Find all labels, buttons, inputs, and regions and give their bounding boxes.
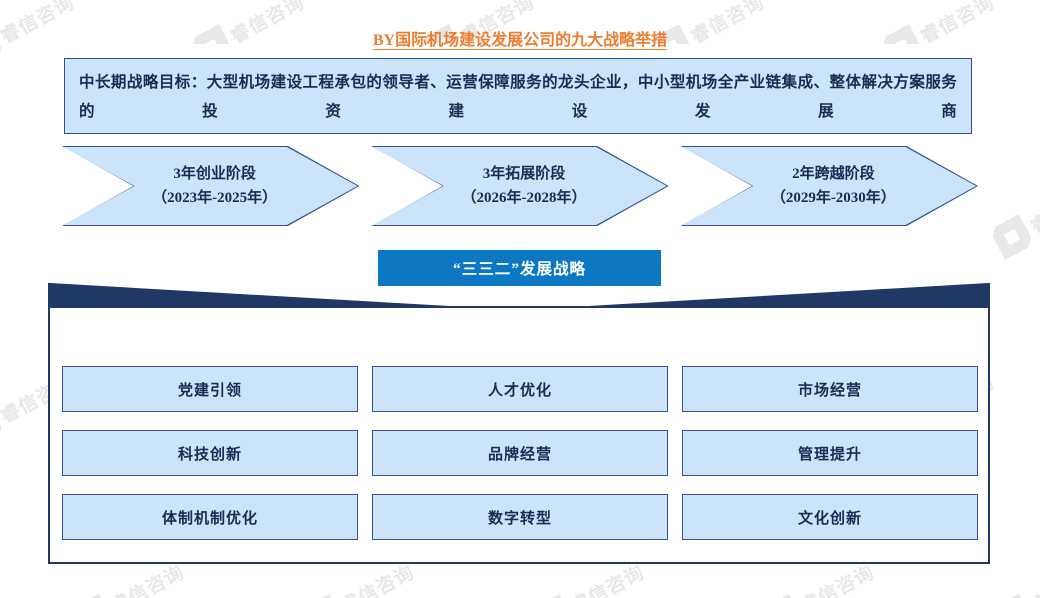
- measures-grid: 党建引领 人才优化 市场经营 科技创新 品牌经营 管理提升 体制机制优化 数字转…: [62, 366, 978, 540]
- phase-name-3: 2年跨越阶段: [792, 162, 875, 186]
- strategy-banner: “三三二”发展战略: [378, 250, 661, 286]
- strategic-goal-text: 中长期战略目标：大型机场建设工程承包的领导者、运营保障服务的龙头企业，中小型机场…: [79, 68, 957, 126]
- phase-name-1: 3年创业阶段: [173, 162, 256, 186]
- measure-box-2[interactable]: 人才优化: [372, 366, 668, 412]
- measures-title: BY国际机场建设发展公司的九大战略举措: [0, 26, 1040, 50]
- strategic-goal-box: 中长期战略目标：大型机场建设工程承包的领导者、运营保障服务的龙头企业，中小型机场…: [64, 58, 972, 134]
- measure-box-7[interactable]: 体制机制优化: [62, 494, 358, 540]
- measure-box-1[interactable]: 党建引领: [62, 366, 358, 412]
- phase-chevron-row: 3年创业阶段 （2023年-2025年） 3年拓展阶段 （2026年-2028年…: [62, 146, 978, 226]
- phase-chevron-2[interactable]: 3年拓展阶段 （2026年-2028年）: [371, 146, 668, 226]
- measure-box-4[interactable]: 科技创新: [62, 430, 358, 476]
- phase-chevron-3[interactable]: 2年跨越阶段 （2029年-2030年）: [681, 146, 978, 226]
- content-layer: 中长期战略目标：大型机场建设工程承包的领导者、运营保障服务的龙头企业，中小型机场…: [0, 0, 1040, 598]
- phase-period-1: （2023年-2025年）: [152, 186, 277, 210]
- measure-box-3[interactable]: 市场经营: [682, 366, 978, 412]
- measure-box-8[interactable]: 数字转型: [372, 494, 668, 540]
- phase-period-2: （2026年-2028年）: [461, 186, 586, 210]
- phase-label-1: 3年创业阶段 （2023年-2025年）: [62, 146, 359, 226]
- phase-period-3: （2029年-2030年）: [771, 186, 896, 210]
- phase-name-2: 3年拓展阶段: [483, 162, 566, 186]
- phase-chevron-1[interactable]: 3年创业阶段 （2023年-2025年）: [62, 146, 359, 226]
- measure-box-6[interactable]: 管理提升: [682, 430, 978, 476]
- phase-label-3: 2年跨越阶段 （2029年-2030年）: [681, 146, 978, 226]
- phase-label-2: 3年拓展阶段 （2026年-2028年）: [371, 146, 668, 226]
- measure-box-9[interactable]: 文化创新: [682, 494, 978, 540]
- measure-box-5[interactable]: 品牌经营: [372, 430, 668, 476]
